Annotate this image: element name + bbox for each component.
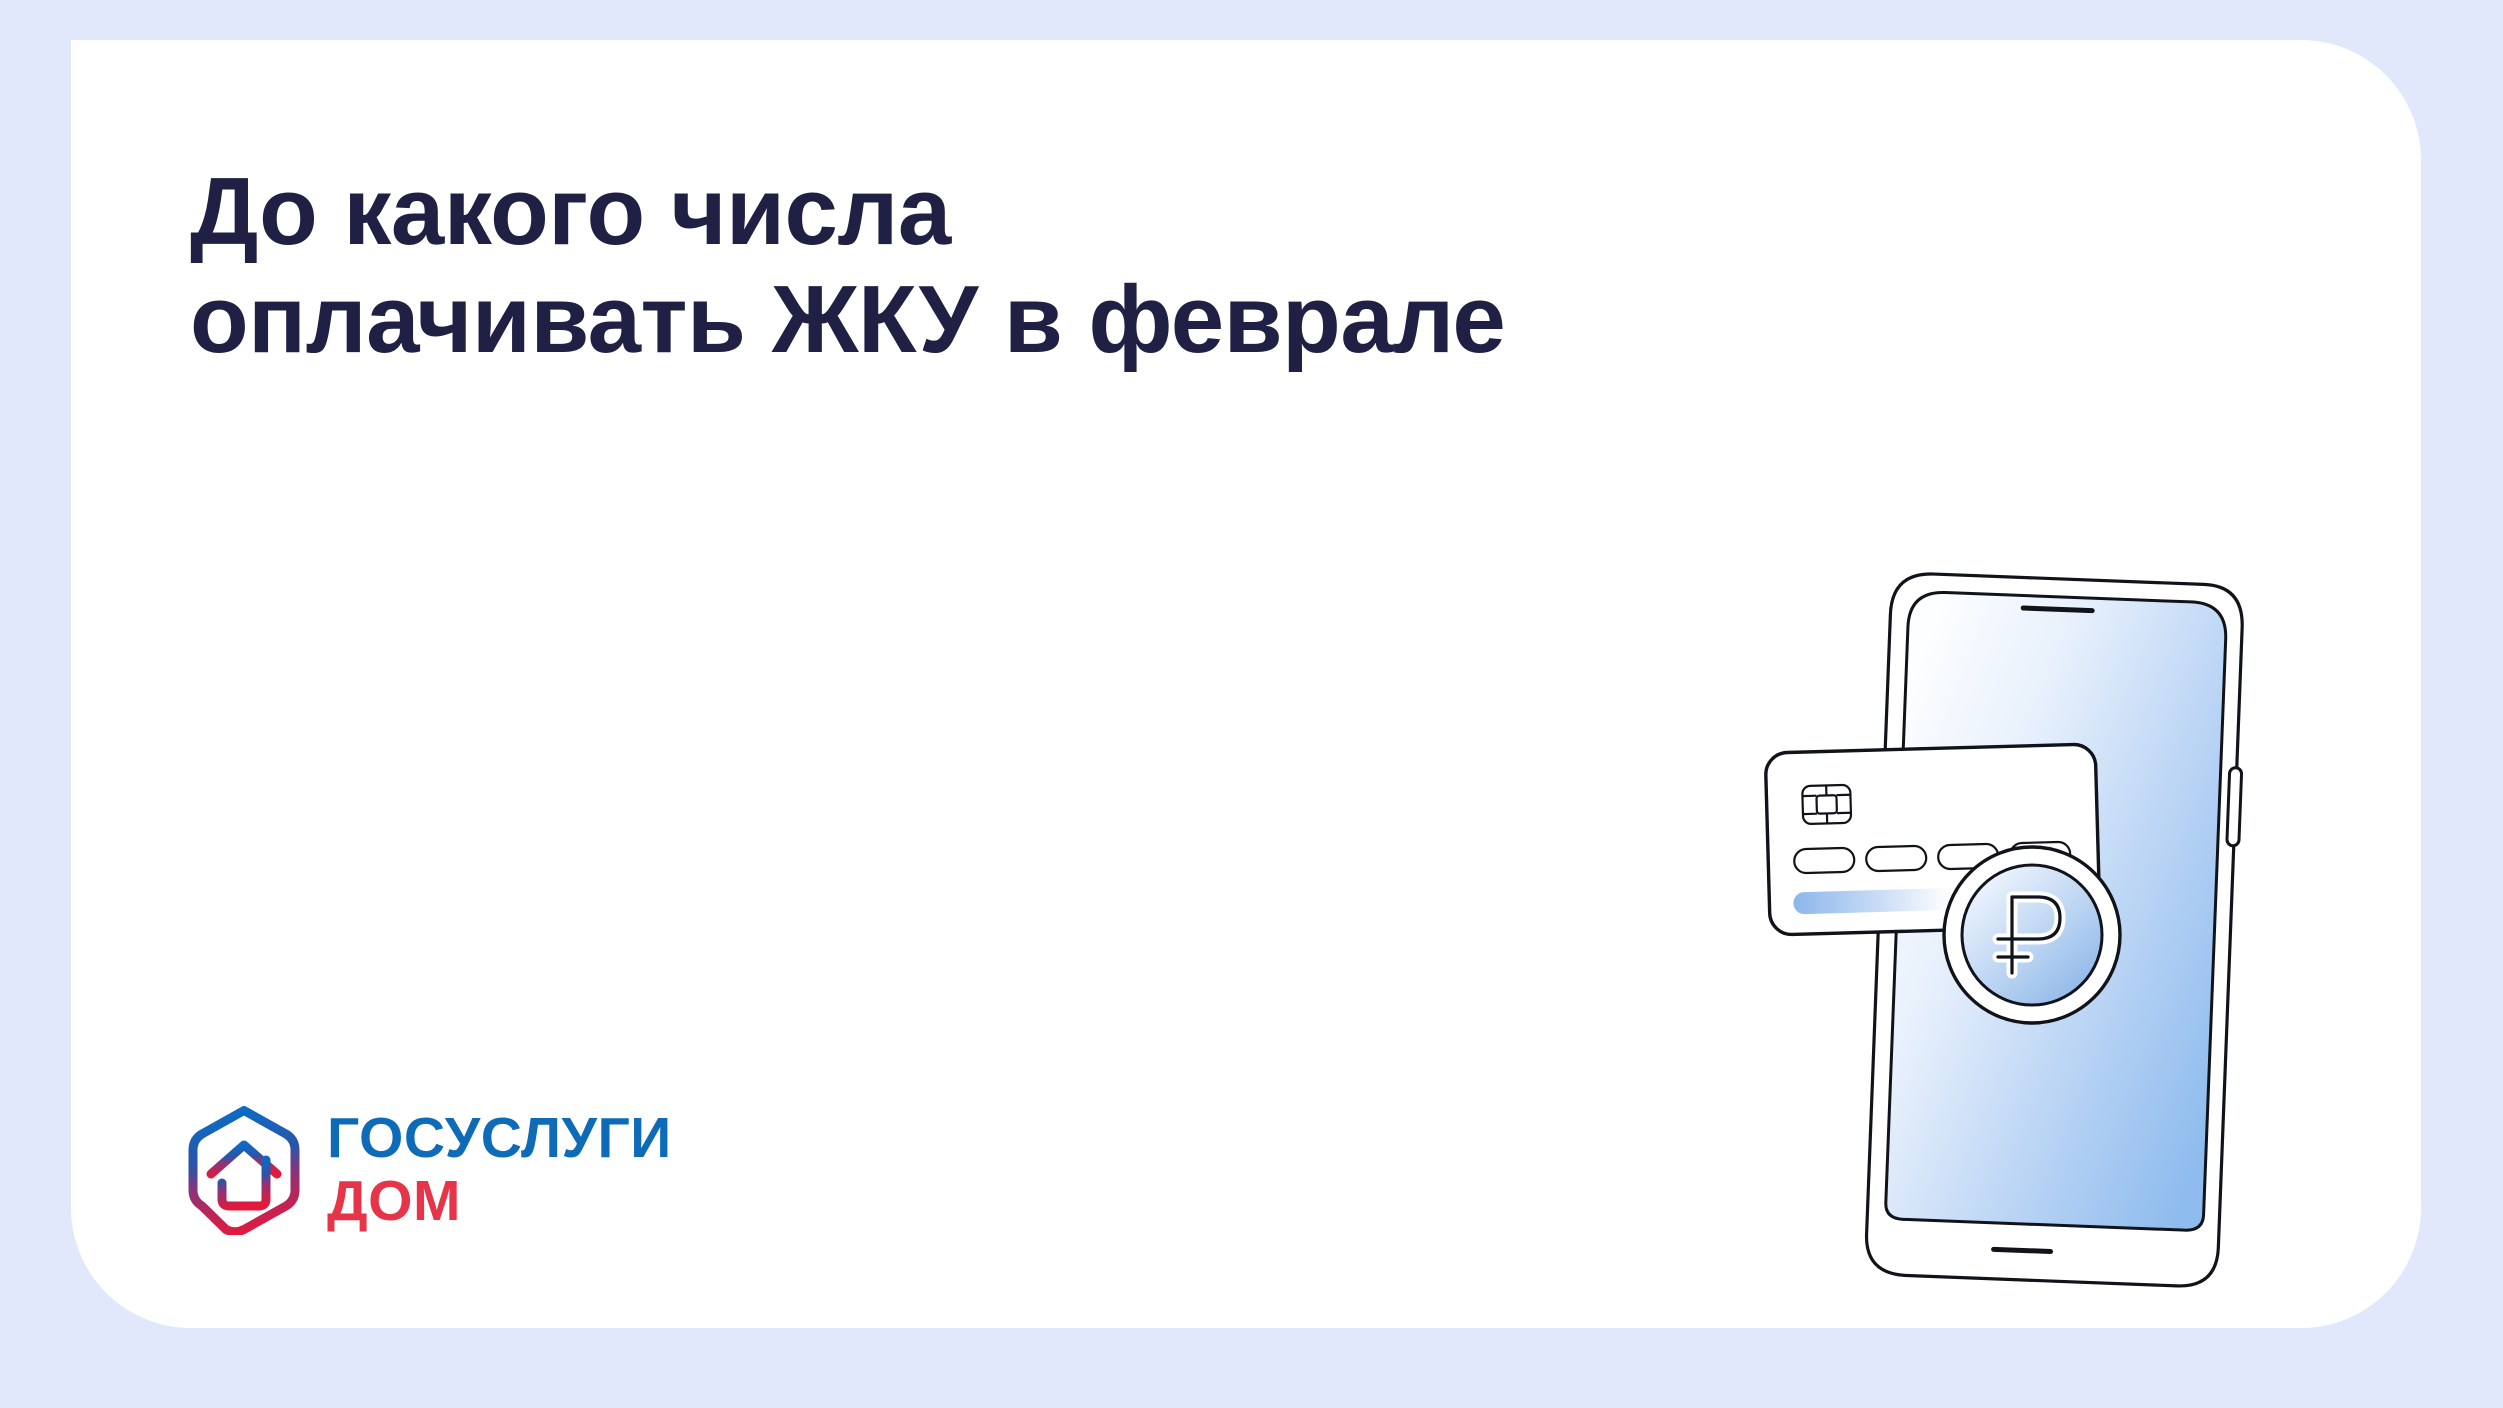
page-title-line-2: оплачивать ЖКУ в феврале bbox=[190, 266, 1910, 374]
card-stripe bbox=[1793, 888, 1950, 914]
poster-canvas: До какого числа оплачивать ЖКУ в феврале bbox=[0, 0, 2503, 1408]
brand-wordmark: ГОСУСЛУГИ ДОМ bbox=[327, 1110, 672, 1230]
brand-word-dom: ДОМ bbox=[327, 1173, 672, 1230]
brand-logo: ГОСУСЛУГИ ДОМ bbox=[185, 1105, 672, 1235]
phone-side-button bbox=[2227, 768, 2242, 846]
ruble-coin bbox=[1944, 847, 2120, 1023]
smartphone-card-coin-illustration bbox=[1760, 560, 2280, 1300]
brand-word-gosuslugi: ГОСУСЛУГИ bbox=[327, 1110, 672, 1167]
house-in-hexagon-icon bbox=[185, 1105, 303, 1235]
page-title: До какого числа оплачивать ЖКУ в феврале bbox=[190, 158, 1910, 373]
page-title-line-1: До какого числа bbox=[190, 158, 1910, 266]
